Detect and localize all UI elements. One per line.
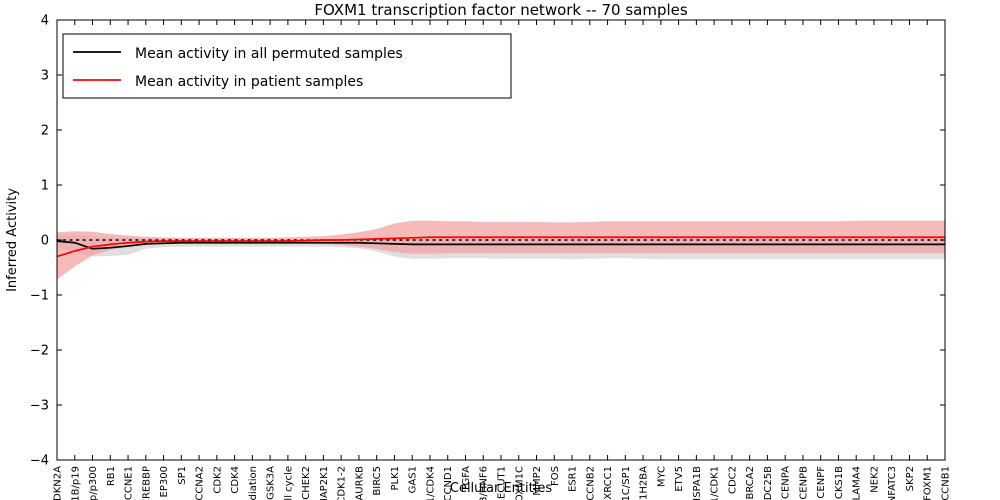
x-tick-label: RB1 — [106, 466, 117, 486]
x-tick-label: CCNA2 — [195, 466, 206, 500]
x-tick-label: NEK2 — [869, 466, 880, 493]
y-tick-label: 1 — [41, 179, 49, 194]
y-tick-label: 2 — [41, 124, 49, 139]
legend-label: Mean activity in patient samples — [135, 74, 363, 90]
x-tick-label: CCNE1 — [124, 466, 135, 500]
chart-legend[interactable]: Mean activity in all permuted samplesMea… — [63, 34, 511, 98]
x-tick-label: ETV5 — [674, 466, 685, 492]
chart-title: FOXM1 transcription factor network -- 70… — [314, 1, 688, 19]
x-tick-label: SKP2 — [905, 466, 916, 491]
x-tick-label: PLK1 — [390, 466, 401, 491]
x-tick-label: GAS1 — [408, 466, 419, 493]
x-tick-label: CDK4 — [230, 466, 241, 494]
legend-label: Mean activity in all permuted samples — [135, 46, 403, 62]
x-tick-label: CKS1B — [834, 466, 845, 499]
y-tick-label: 3 — [41, 69, 49, 84]
y-tick-label: −3 — [30, 399, 49, 414]
x-tick-label: XRCC1 — [603, 466, 614, 500]
x-tick-label: FOXM1 — [923, 466, 934, 500]
x-tick-label: CHEK2 — [301, 466, 312, 500]
chart-canvas: −4−3−2−101234 CDKN2AFOXM1B/p19FOXM1B/Cbp… — [0, 0, 1000, 500]
x-tick-label: HIST1H2BA — [639, 466, 650, 500]
x-axis-label: Cellular Entities — [450, 481, 552, 496]
x-tick-label: HSPA1B — [692, 466, 703, 500]
y-tick-label: 0 — [41, 234, 49, 249]
x-tick-label: BIRC5 — [372, 466, 383, 496]
y-tick-label: −4 — [30, 454, 49, 469]
x-tick-label: MYC — [656, 466, 667, 487]
x-tick-label: CCNB1 — [941, 466, 952, 500]
x-tick-label: NFATC3 — [887, 466, 898, 500]
x-tick-label: CDC2 — [727, 466, 738, 494]
x-tick-label: CDC25B — [763, 466, 774, 500]
x-tick-label: CENPF — [816, 466, 827, 499]
x-tick-label: CCNB2 — [585, 466, 596, 500]
x-tick-label: Cyclin D1/CDK4 — [425, 466, 436, 500]
figure-container: −4−3−2−101234 CDKN2AFOXM1B/p19FOXM1B/Cbp… — [0, 0, 1000, 500]
x-tick-label: G2/M transition of mitotic cell cycle — [283, 466, 294, 500]
y-tick-label: 4 — [41, 14, 49, 29]
x-tick-label: CENPA — [781, 466, 792, 499]
x-tick-label: CREBBP — [141, 466, 152, 500]
x-tick-label: BRCA2 — [745, 466, 756, 500]
x-tick-label: AURKB — [354, 466, 365, 500]
x-tick-label: CENPB — [798, 466, 809, 500]
x-tick-label: EP300 — [159, 466, 170, 497]
x-tick-label: FOXM1C/SP1 — [621, 466, 632, 500]
x-tick-label: CDKN2A — [53, 466, 64, 500]
y-axis-label: Inferred Activity — [5, 188, 20, 292]
x-tick-label: SP1 — [177, 466, 188, 485]
y-tick-label: −2 — [30, 344, 49, 359]
x-tick-label: CCNB1/CDK1 — [710, 466, 721, 500]
x-tick-label: response to radiation — [248, 466, 259, 500]
x-tick-label: LAMA4 — [852, 466, 863, 500]
x-tick-label: FOXM1B/p19 — [70, 466, 81, 500]
x-tick-label: GSK3A — [266, 466, 277, 500]
x-tick-label: ESR1 — [568, 466, 579, 492]
confidence-bands — [57, 221, 945, 280]
x-tick-label: CDK2 — [212, 466, 223, 494]
x-tick-label: Cyclin A-E1/CDK1-2 — [337, 466, 348, 500]
y-tick-label: −1 — [30, 289, 49, 304]
x-tick-label: MAP2K1 — [319, 466, 330, 500]
x-tick-label: FOXM1B/Cbp/p300 — [88, 466, 99, 500]
band-patient — [57, 221, 945, 280]
